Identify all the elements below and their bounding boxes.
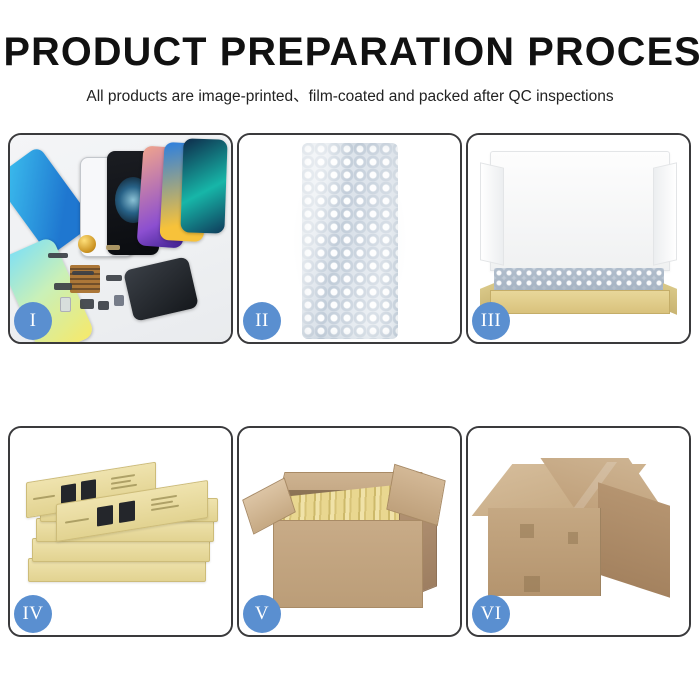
connector-board-part	[70, 265, 100, 293]
box-label-text	[111, 474, 135, 480]
phone-display-teal	[180, 138, 227, 233]
carton-front-face	[488, 508, 601, 596]
spare-part	[80, 299, 94, 309]
box-label-image	[119, 501, 135, 524]
box-label-text	[151, 505, 179, 511]
step-badge-4: IV	[14, 595, 52, 633]
page-title: PRODUCT PREPARATION PROCESS	[4, 30, 697, 75]
bubble-wrap-sheen	[302, 143, 398, 339]
spare-part	[106, 275, 122, 281]
step-panel-1: I	[8, 133, 233, 344]
box-label-text	[33, 495, 55, 500]
box-label-text	[151, 495, 177, 501]
step-panel-3: III	[466, 133, 691, 344]
spare-part	[72, 271, 94, 275]
step-badge-2: II	[243, 302, 281, 340]
process-steps-grid: I II III	[8, 133, 692, 645]
box-label-image	[97, 505, 113, 527]
step-panel-6: VI	[466, 426, 691, 637]
phone-rear-housing	[123, 256, 199, 322]
step-panel-4: IV	[8, 426, 233, 637]
step-panel-2: II	[237, 133, 462, 344]
page-subtitle: All products are image-printed、film-coat…	[0, 84, 700, 106]
step-panel-5: V	[237, 426, 462, 637]
camera-module-part	[78, 235, 96, 253]
spare-part	[106, 245, 120, 250]
spare-part	[54, 283, 72, 290]
step-badge-1: I	[14, 302, 52, 340]
step-badge-6: VI	[472, 595, 510, 633]
box-lid-flap-right	[653, 162, 677, 266]
box-lid	[490, 151, 670, 271]
box-label-text	[65, 518, 89, 524]
carton-front-panel	[273, 520, 423, 608]
box-lid-flap-left	[480, 162, 504, 266]
step-badge-3: III	[472, 302, 510, 340]
carton-tape-mark	[524, 576, 540, 592]
header: PRODUCT PREPARATION PROCESS All products…	[0, 0, 700, 106]
carton-tape-mark	[520, 524, 534, 538]
spare-part	[48, 253, 68, 258]
carton-tape-mark	[568, 532, 578, 544]
carton-right-face	[598, 482, 670, 597]
spare-part	[60, 297, 71, 312]
step-badge-5: V	[243, 595, 281, 633]
product-preparation-process-infographic: PRODUCT PREPARATION PROCESS All products…	[0, 0, 700, 700]
box-stack	[24, 446, 220, 616]
spare-part	[98, 301, 109, 310]
spare-part	[114, 295, 124, 306]
box-label-text	[111, 484, 137, 490]
box-tray-front	[490, 290, 670, 314]
